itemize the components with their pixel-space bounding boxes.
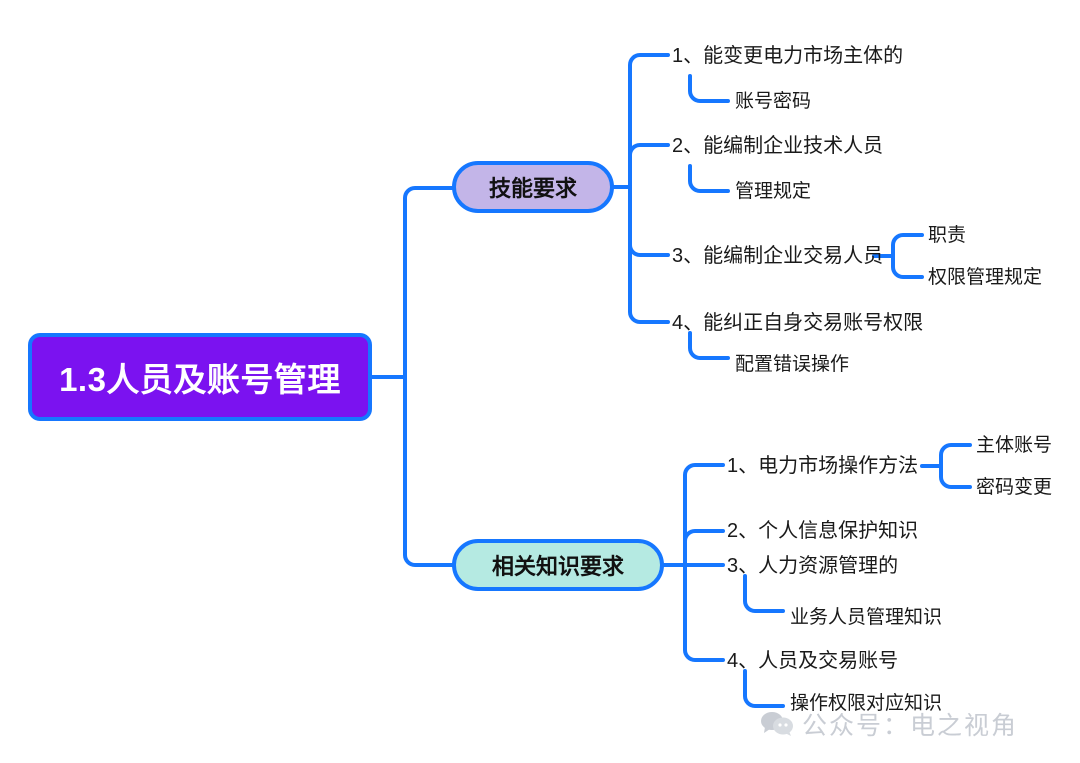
watermark-text: 公众号：电之视角	[802, 706, 1018, 742]
knowledge-item-3-child-1[interactable]: 业务人员管理知识	[790, 608, 942, 627]
connector-knowledge-item-1	[685, 465, 723, 565]
connector-skill-item-4	[630, 187, 668, 322]
connector-skill-item-3	[630, 187, 668, 255]
connector-skill-3-child-2	[893, 256, 922, 277]
connector-knowledge-4-child-1	[745, 671, 783, 706]
connector-knowledge-1-child-1	[941, 445, 970, 466]
connector-knowledge-item-2	[685, 531, 723, 565]
connector-trunk-knowledge	[405, 377, 452, 565]
connector-knowledge-1-child-2	[941, 466, 970, 487]
knowledge-item-1[interactable]: 1、电力市场操作方法	[727, 456, 918, 476]
wechat-icon	[760, 710, 794, 738]
skill-item-2[interactable]: 2、能编制企业技术人员	[672, 136, 883, 156]
mindmap-canvas: 1.3人员及账号管理 技能要求 相关知识要求 1、能变更电力市场主体的 账号密码…	[0, 0, 1080, 763]
connector-knowledge-3-child-1	[745, 576, 783, 611]
skill-item-1-child-1[interactable]: 账号密码	[735, 92, 811, 111]
skill-item-3[interactable]: 3、能编制企业交易人员	[672, 246, 883, 266]
skill-item-3-child-2[interactable]: 权限管理规定	[928, 268, 1042, 287]
skill-item-4-child-1[interactable]: 配置错误操作	[735, 355, 849, 374]
skill-item-4[interactable]: 4、能纠正自身交易账号权限	[672, 313, 923, 333]
connector-skill-2-child-1	[690, 166, 728, 191]
connector-trunk-skill	[405, 188, 452, 377]
connector-skill-4-child-1	[690, 333, 728, 358]
knowledge-item-1-child-1[interactable]: 主体账号	[976, 436, 1052, 455]
branch-node-knowledge[interactable]: 相关知识要求	[452, 539, 664, 591]
connector-skill-item-2	[630, 145, 668, 187]
knowledge-item-2[interactable]: 2、个人信息保护知识	[727, 521, 918, 541]
skill-item-2-child-1[interactable]: 管理规定	[735, 182, 811, 201]
connector-skill-1-child-1	[690, 76, 728, 101]
connector-skill-3-child-1	[893, 235, 922, 256]
connector-skill-item-1	[630, 55, 668, 187]
connector-knowledge-item-4	[685, 565, 723, 660]
knowledge-item-1-child-2[interactable]: 密码变更	[976, 478, 1052, 497]
branch-node-skill[interactable]: 技能要求	[452, 161, 614, 213]
root-node[interactable]: 1.3人员及账号管理	[28, 333, 372, 421]
knowledge-item-3[interactable]: 3、人力资源管理的	[727, 556, 898, 576]
knowledge-item-4[interactable]: 4、人员及交易账号	[727, 651, 898, 671]
watermark: 公众号：电之视角	[760, 706, 1018, 742]
skill-item-3-child-1[interactable]: 职责	[928, 226, 966, 245]
skill-item-1[interactable]: 1、能变更电力市场主体的	[672, 46, 903, 66]
